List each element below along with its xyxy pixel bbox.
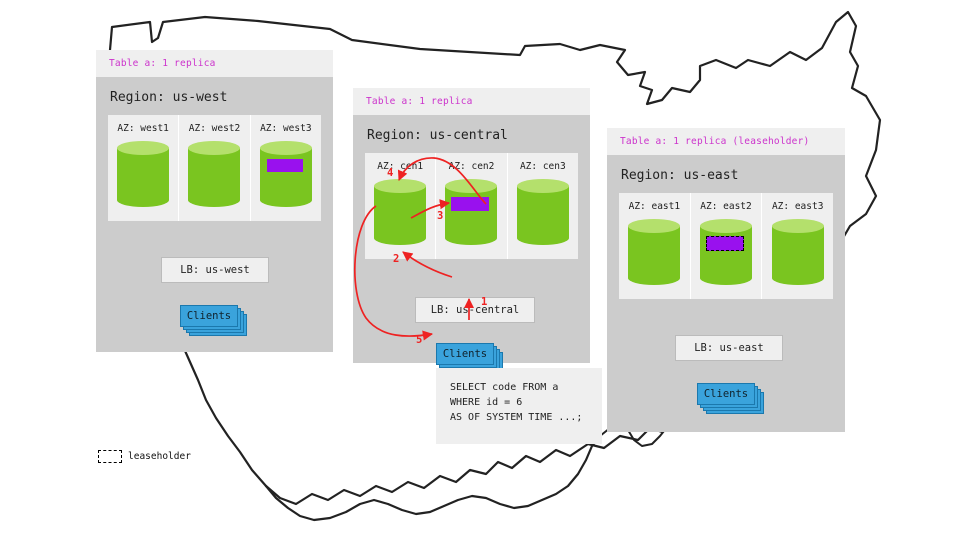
lb-us-east[interactable]: LB: us-east bbox=[675, 335, 783, 361]
clients-us-east[interactable]: Clients bbox=[697, 383, 767, 415]
cylinder-top bbox=[517, 179, 569, 193]
az-row-us-central: AZ: cen1 AZ: cen2 bbox=[365, 153, 578, 259]
az-label: AZ: west1 bbox=[117, 123, 168, 134]
arrow-label-3: 3 bbox=[437, 210, 443, 222]
az-label: AZ: west2 bbox=[189, 123, 240, 134]
region-title-us-east: Region: us-east bbox=[607, 155, 845, 193]
node-cylinder[interactable] bbox=[260, 141, 312, 207]
cylinder-top bbox=[700, 219, 752, 233]
az-label: AZ: cen2 bbox=[449, 161, 495, 172]
az-west3[interactable]: AZ: west3 bbox=[251, 115, 321, 221]
az-east1[interactable]: AZ: east1 bbox=[619, 193, 691, 299]
cylinder-top bbox=[117, 141, 169, 155]
cylinder-body bbox=[260, 148, 312, 200]
az-west2[interactable]: AZ: west2 bbox=[179, 115, 250, 221]
clients-label[interactable]: Clients bbox=[697, 383, 755, 405]
cylinder-top bbox=[374, 179, 426, 193]
az-cen1[interactable]: AZ: cen1 bbox=[365, 153, 436, 259]
lb-us-west[interactable]: LB: us-west bbox=[161, 257, 269, 283]
az-row-us-east: AZ: east1 AZ: east2 bbox=[619, 193, 833, 299]
node-cylinder[interactable] bbox=[772, 219, 824, 285]
dashed-rect-icon bbox=[98, 450, 122, 463]
az-label: AZ: cen3 bbox=[520, 161, 566, 172]
node-cylinder[interactable] bbox=[188, 141, 240, 207]
cylinder-body bbox=[188, 148, 240, 200]
cylinder-body bbox=[374, 186, 426, 238]
cylinder-body bbox=[772, 226, 824, 278]
legend: leaseholder bbox=[98, 450, 191, 463]
lb-us-central[interactable]: LB: us-central bbox=[415, 297, 535, 323]
region-us-east: Table a: 1 replica (leaseholder) Region:… bbox=[607, 128, 845, 432]
cylinder-top bbox=[772, 219, 824, 233]
region-title-us-west: Region: us-west bbox=[96, 77, 333, 115]
az-cen3[interactable]: AZ: cen3 bbox=[508, 153, 578, 259]
az-label: AZ: east3 bbox=[772, 201, 823, 212]
az-label: AZ: cen1 bbox=[377, 161, 423, 172]
cylinder-body bbox=[117, 148, 169, 200]
node-cylinder[interactable] bbox=[700, 219, 752, 285]
legend-label: leaseholder bbox=[128, 451, 191, 462]
arrow-label-4: 4 bbox=[387, 167, 393, 179]
node-cylinder[interactable] bbox=[517, 179, 569, 245]
region-us-central: Table a: 1 replica Region: us-central AZ… bbox=[353, 88, 590, 363]
arrow-label-5: 5 bbox=[416, 334, 422, 346]
sql-query-box: SELECT code FROM a WHERE id = 6 AS OF SY… bbox=[436, 368, 602, 444]
table-label-us-central: Table a: 1 replica bbox=[353, 88, 590, 115]
az-east3[interactable]: AZ: east3 bbox=[762, 193, 833, 299]
replica-east2-leaseholder[interactable] bbox=[706, 236, 744, 251]
replica-cen2[interactable] bbox=[451, 197, 489, 211]
az-label: AZ: west3 bbox=[260, 123, 311, 134]
cylinder-body bbox=[445, 186, 497, 238]
region-title-us-central: Region: us-central bbox=[353, 115, 590, 153]
clients-label[interactable]: Clients bbox=[436, 343, 494, 365]
node-cylinder[interactable] bbox=[628, 219, 680, 285]
clients-label[interactable]: Clients bbox=[180, 305, 238, 327]
cylinder-body bbox=[628, 226, 680, 278]
node-cylinder[interactable] bbox=[374, 179, 426, 245]
node-cylinder[interactable] bbox=[117, 141, 169, 207]
cylinder-body bbox=[700, 226, 752, 278]
az-west1[interactable]: AZ: west1 bbox=[108, 115, 179, 221]
clients-us-west[interactable]: Clients bbox=[180, 305, 246, 337]
replica-west3[interactable] bbox=[267, 159, 303, 172]
cylinder-top bbox=[260, 141, 312, 155]
az-label: AZ: east1 bbox=[629, 201, 680, 212]
node-cylinder[interactable] bbox=[445, 179, 497, 245]
cylinder-top bbox=[628, 219, 680, 233]
table-label-us-east: Table a: 1 replica (leaseholder) bbox=[607, 128, 845, 155]
region-us-west: Table a: 1 replica Region: us-west AZ: w… bbox=[96, 50, 333, 352]
az-east2[interactable]: AZ: east2 bbox=[691, 193, 763, 299]
arrow-label-1: 1 bbox=[481, 296, 487, 308]
az-cen2[interactable]: AZ: cen2 bbox=[436, 153, 507, 259]
arrow-label-2: 2 bbox=[393, 253, 399, 265]
az-row-us-west: AZ: west1 AZ: west2 AZ bbox=[108, 115, 321, 221]
diagram-canvas: Table a: 1 replica Region: us-west AZ: w… bbox=[0, 0, 960, 540]
table-label-us-west: Table a: 1 replica bbox=[96, 50, 333, 77]
az-label: AZ: east2 bbox=[700, 201, 751, 212]
cylinder-body bbox=[517, 186, 569, 238]
